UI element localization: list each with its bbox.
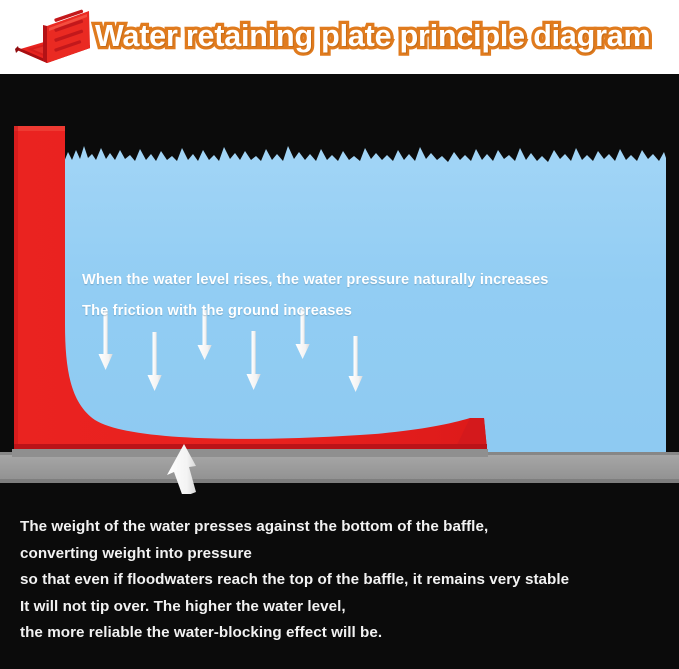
caption-line: It will not tip over. The higher the wat… [20,594,668,621]
caption-line: converting weight into pressure [20,541,668,568]
page-title: Water retaining plate principle diagram [95,19,650,54]
header-bar: Water retaining plate principle diagram [0,0,679,74]
diagram-panel: When the water level rises, the water pr… [0,74,679,669]
title-container: Water retaining plate principle diagram [95,10,675,62]
flood-water-body [64,146,666,452]
water-annotation-line-2: The friction with the ground increases [82,303,352,319]
caption-block: The weight of the water presses against … [20,514,668,647]
caption-line: the more reliable the water-blocking eff… [20,620,668,647]
caption-line: so that even if floodwaters reach the to… [20,567,668,594]
principle-diagram-page: Water retaining plate principle diagram [0,0,679,669]
product-logo-icon [13,6,91,66]
caption-line: The weight of the water presses against … [20,514,668,541]
water-annotation-line-1: When the water level rises, the water pr… [82,272,549,288]
